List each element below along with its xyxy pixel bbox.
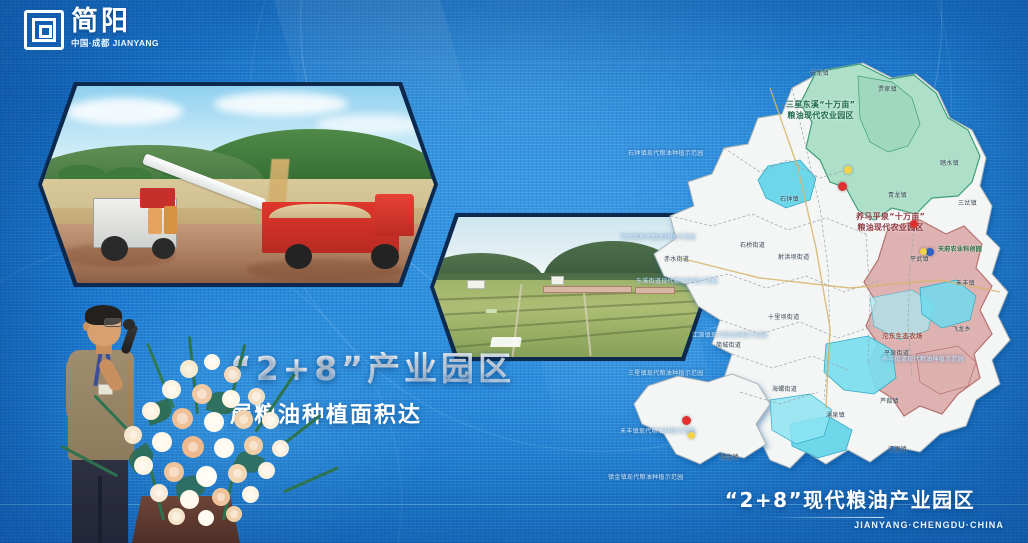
map-town-label: 涌泉镇 xyxy=(826,410,845,419)
map-town-label: 江源镇 xyxy=(888,444,907,453)
flower xyxy=(244,436,263,455)
truck-wheel xyxy=(371,244,398,270)
map-town-label: 贾家镇 xyxy=(878,84,897,93)
speaker-and-podium xyxy=(52,300,282,543)
flower xyxy=(242,486,259,503)
caption-rule xyxy=(764,517,884,518)
flower xyxy=(272,440,289,457)
marker-yellow[interactable] xyxy=(920,248,927,255)
map-town-label: 踏水镇 xyxy=(940,158,959,167)
speaker-ear xyxy=(83,322,89,331)
flower xyxy=(198,510,214,526)
flower xyxy=(150,484,168,502)
flower-bouquet xyxy=(76,336,296,521)
truck-grain-load xyxy=(269,204,371,218)
map-park-label-green-line1: 三星东溪“十万亩” xyxy=(786,100,855,109)
marker-red-west[interactable] xyxy=(682,416,691,425)
flower xyxy=(142,402,160,420)
map-caption: “2+8”现代粮油产业园区 JIANYANG·CHENGDU·CHINA xyxy=(690,484,1010,530)
map-town-label: 飞龙乡 xyxy=(952,324,971,333)
worker xyxy=(148,208,162,234)
flower xyxy=(196,466,217,487)
flower xyxy=(212,488,230,506)
microphone-head xyxy=(123,319,135,330)
flower xyxy=(162,380,181,399)
photo-harvester-truck-image xyxy=(42,86,434,283)
seal-square-icon xyxy=(24,10,64,50)
map-town-label: 石钟镇 xyxy=(780,194,799,203)
flower xyxy=(182,436,204,458)
map-sea-label: 东溪街道现代粮油种植示范园 xyxy=(636,276,718,285)
cloud xyxy=(214,92,347,116)
map-park-label-tianfu: 天府农业科创园 xyxy=(938,244,982,253)
map-town-label: 三岔镇 xyxy=(958,198,977,207)
map-park-label-green: 三星东溪“十万亩” 粮油现代农业园区 xyxy=(786,100,855,122)
map-park-label-eco: 沱东生态农场 xyxy=(882,330,923,340)
logo-subtitle: 中国·成都 JIANYANG xyxy=(71,39,159,48)
flower xyxy=(258,462,275,479)
map-town-label: 镇金镇 xyxy=(720,452,739,461)
flower xyxy=(180,360,198,378)
marker-blue[interactable] xyxy=(926,248,934,256)
map-town-label: 简城街道 xyxy=(716,340,741,349)
jianyang-logo: 简阳 中国·成都 JIANYANG xyxy=(24,8,159,50)
map-sea-label: 平武镇现代粮油种植示范园 xyxy=(620,232,696,241)
map-town-label: 平泉街道 xyxy=(884,348,909,357)
flower xyxy=(222,390,240,408)
map-town-label: 射洪坝街道 xyxy=(778,252,810,261)
presentation-screen: 简阳 中国·成都 JIANYANG xyxy=(0,0,1028,543)
flower xyxy=(180,490,199,509)
flower xyxy=(226,506,242,522)
flower xyxy=(234,410,253,429)
marker-red-secondary[interactable] xyxy=(910,220,918,228)
map-town-label: 海螺街道 xyxy=(772,384,797,393)
greenhouse xyxy=(485,309,497,313)
worker xyxy=(164,206,178,234)
map-town-label: 青龙镇 xyxy=(888,190,907,199)
flower xyxy=(204,354,220,370)
map-caption-subtitle: JIANYANG·CHENGDU·CHINA xyxy=(690,520,1010,530)
farm-house xyxy=(467,280,485,289)
marker-yellow[interactable] xyxy=(844,166,852,174)
map-sea-label: 镇金镇现代粮油种植示范园 xyxy=(608,472,684,481)
flower xyxy=(152,432,172,452)
flower xyxy=(124,426,142,444)
flower xyxy=(224,366,241,383)
greenhouse xyxy=(490,337,522,347)
flower xyxy=(164,462,184,482)
flower xyxy=(228,464,247,483)
map-town-label: 赤水街道 xyxy=(664,254,689,263)
flower xyxy=(248,388,265,405)
jianyang-district-map: 三星东溪“十万亩” 粮油现代农业园区 养马平泉“十万亩” 粮油现代农业园区 石钟… xyxy=(620,48,1028,498)
marker-red-primary[interactable] xyxy=(838,182,847,191)
flower xyxy=(168,508,185,525)
flower xyxy=(172,408,193,429)
farm-shed-row xyxy=(543,286,632,294)
map-sea-label: 石钟镇现代粮油种植示范园 xyxy=(628,148,704,157)
map-town-label: 芦葭镇 xyxy=(880,396,899,405)
map-town-label: 禾丰镇 xyxy=(956,278,975,287)
marker-yellow[interactable] xyxy=(688,432,695,439)
truck-cab xyxy=(375,194,414,235)
logo-name-cn: 简阳 xyxy=(71,8,159,35)
flower xyxy=(262,412,279,429)
photo-harvester-truck xyxy=(38,82,438,287)
flower xyxy=(192,384,212,404)
map-park-label-green-line2: 粮油现代农业园区 xyxy=(787,111,853,120)
map-caption-title: “2+8”现代粮油产业园区 xyxy=(690,484,1010,513)
map-sea-label: 江源镇现代粮油种植示范园 xyxy=(692,330,768,339)
map-town-label: 平武镇 xyxy=(910,254,929,263)
speaker-glasses xyxy=(104,318,122,327)
flower xyxy=(134,456,153,475)
flower xyxy=(214,438,234,458)
flower xyxy=(204,412,224,432)
palm-frond xyxy=(60,445,118,478)
farm-house xyxy=(551,276,564,285)
map-town-label: 石桥街道 xyxy=(740,240,765,249)
map-town-label: 十里坝街道 xyxy=(768,312,800,321)
logo-text: 简阳 中国·成都 JIANYANG xyxy=(71,8,159,50)
map-town-label: 云龙镇 xyxy=(810,68,829,77)
